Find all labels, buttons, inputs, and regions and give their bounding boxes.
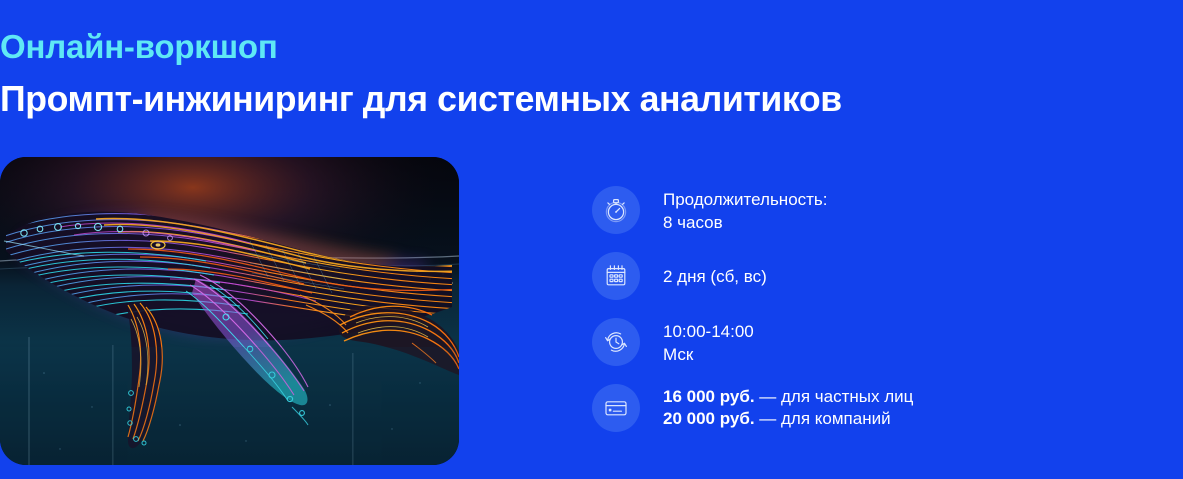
price-company-desc: — для компаний [755,409,891,428]
neon-whale-illustration [0,157,459,465]
duration-label: Продолжительность: [663,188,828,211]
workshop-banner: Онлайн-воркшоп Промпт-инжиниринг для сис… [0,0,1183,479]
detail-text-duration: Продолжительность: 8 часов [663,186,828,234]
detail-text-days: 2 дня (сб, вс) [663,265,767,288]
detail-row-duration: Продолжительность: 8 часов [592,186,1012,234]
price-company: 20 000 руб. [663,409,755,428]
detail-text-price: 16 000 руб. — для частных лиц 20 000 руб… [663,384,913,430]
detail-row-price: 16 000 руб. — для частных лиц 20 000 руб… [592,384,1012,432]
workshop-details-list: Продолжительность: 8 часов [592,186,1012,432]
detail-text-time: 10:00-14:00 Мск [663,318,754,366]
page-title: Промпт-инжиниринг для системных аналитик… [0,77,842,121]
duration-value: 8 часов [663,211,828,234]
stopwatch-icon [592,186,640,234]
timezone-value: Мск [663,343,754,366]
timezone-clock-icon [592,318,640,366]
detail-row-days: 2 дня (сб, вс) [592,252,1012,300]
credit-card-icon [592,384,640,432]
price-individual-desc: — для частных лиц [755,387,914,406]
whale-artwork-svg [0,157,459,465]
time-value: 10:00-14:00 [663,320,754,343]
eyebrow-label: Онлайн-воркшоп [0,27,278,67]
price-individual: 16 000 руб. [663,387,755,406]
calendar-icon [592,252,640,300]
days-value: 2 дня (сб, вс) [663,265,767,288]
detail-row-time: 10:00-14:00 Мск [592,318,1012,366]
